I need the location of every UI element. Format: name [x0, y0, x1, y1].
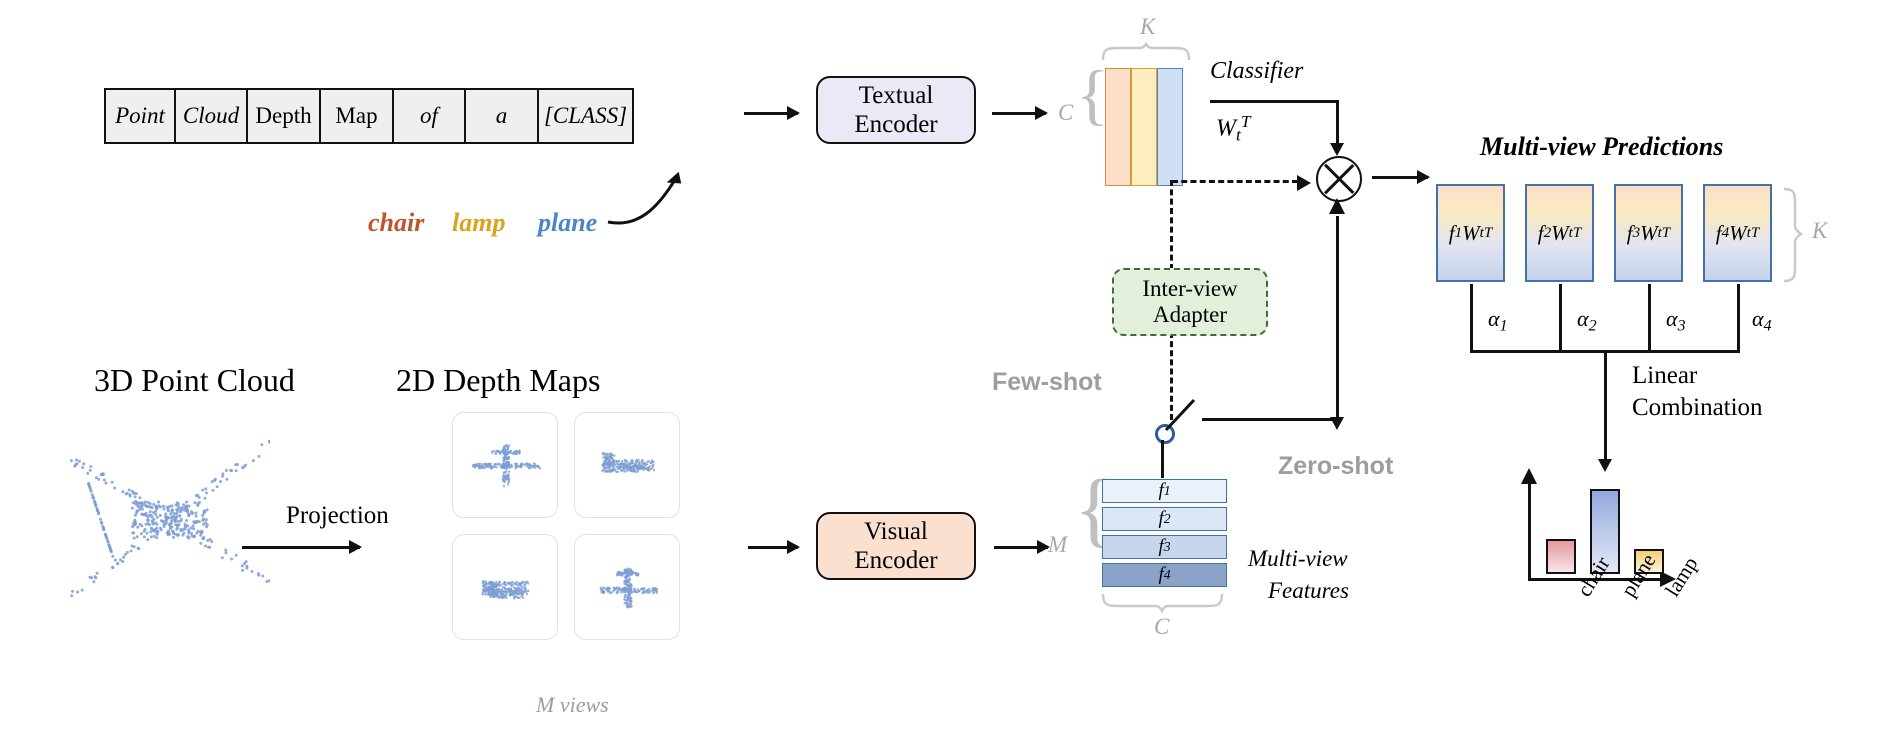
projection-label: Projection: [286, 502, 389, 530]
alpha-line-4: [1737, 284, 1740, 352]
m-views-label: M views: [536, 692, 609, 718]
prediction-box-4: f4WtT: [1703, 184, 1772, 282]
arrow-zeroshot-up-to-multiply: [1336, 216, 1339, 418]
arrow-multiply-to-predictions: [1372, 176, 1428, 179]
zeroshot-line-horizontal: [1202, 418, 1338, 421]
prompt-token-3: Map: [321, 90, 394, 142]
features-caption-line1: Multi-view: [1248, 546, 1348, 572]
chair-column: [1105, 68, 1131, 186]
depth-map-view-1-render: [453, 413, 559, 519]
visual-encoder-line2: Encoder: [854, 546, 937, 576]
adapter-line1: Inter-view: [1142, 276, 1237, 302]
depth-map-view-2-render: [575, 413, 681, 519]
depth-map-view-3: [452, 534, 558, 640]
textual-encoder-box: Textual Encoder: [816, 76, 976, 144]
class-word-lamp: lamp: [452, 208, 505, 238]
alpha-label-4: α4: [1752, 306, 1771, 335]
features-brace-bottom: [1100, 592, 1228, 614]
inter-view-adapter-box: Inter-view Adapter: [1112, 268, 1268, 336]
predictions-dim-K-label: K: [1812, 218, 1827, 244]
dashed-line-adapter-up: [1170, 180, 1173, 270]
alpha-label-2: α2: [1577, 306, 1596, 335]
lamp-column: [1131, 68, 1157, 186]
multiply-operator-icon: [1316, 156, 1362, 202]
alpha-label-1: α1: [1488, 306, 1507, 335]
multi-view-feature-stack: f1f2f3f4: [1102, 479, 1227, 591]
arrow-depthmaps-to-visual-encoder: [748, 546, 798, 549]
feature-row-f1: f1: [1102, 479, 1227, 503]
few-shot-label: Few-shot: [992, 368, 1102, 397]
visual-encoder-line1: Visual: [864, 517, 928, 547]
class-curve-arrow-icon: [600, 150, 720, 230]
classifier-title: Classifier: [1210, 58, 1303, 85]
linear-combination-line2: Combination: [1632, 394, 1763, 422]
depth-map-view-4-render: [575, 535, 681, 641]
plane-column: [1157, 68, 1183, 186]
predictions-title: Multi-view Predictions: [1480, 132, 1723, 162]
prediction-box-1: f1WtT: [1436, 184, 1505, 282]
classifier-brace-left: {: [1076, 60, 1109, 128]
arrow-prompt-to-textual-encoder: [744, 112, 798, 115]
features-dim-M-label: M: [1048, 532, 1067, 558]
classifier-brace-top: [1100, 42, 1192, 62]
feature-row-f3: f3: [1102, 535, 1227, 559]
classifier-dim-C-label: C: [1058, 100, 1073, 126]
textual-encoder-line1: Textual: [859, 81, 934, 111]
alpha-line-2: [1559, 284, 1562, 352]
class-word-plane: plane: [538, 208, 597, 238]
prediction-box-2: f2WtT: [1525, 184, 1594, 282]
prompt-token-1: Cloud: [176, 90, 248, 142]
arrow-classifier-down: [1336, 100, 1339, 144]
prompt-token-0: Point: [106, 90, 176, 142]
visual-encoder-box: Visual Encoder: [816, 512, 976, 580]
classifier-weights-label: WtT: [1216, 112, 1250, 145]
prediction-boxes-row: f1WtTf2WtTf3WtTf4WtT: [1436, 184, 1772, 282]
prompt-token-5: a: [466, 90, 539, 142]
bar-chair: [1546, 539, 1576, 574]
predictions-brace-right: [1782, 186, 1804, 284]
prediction-box-3: f3WtT: [1614, 184, 1683, 282]
mode-switch-lever-icon[interactable]: [1162, 398, 1208, 438]
prompt-token-4: of: [394, 90, 466, 142]
alpha-line-1: [1470, 284, 1473, 352]
adapter-line2: Adapter: [1153, 302, 1227, 328]
features-caption-line2: Features: [1268, 578, 1349, 604]
alpha-line-3: [1648, 284, 1651, 352]
arrow-linear-combination-down: [1604, 350, 1607, 460]
prediction-bar-chart: chairplanelamp: [1528, 470, 1748, 580]
depth-map-view-4: [574, 534, 680, 640]
point-cloud-render: [70, 440, 270, 600]
classifier-matrix: [1105, 68, 1183, 186]
arrow-textual-encoder-to-classifier: [992, 112, 1046, 115]
prompt-token-6: [CLASS]: [539, 90, 632, 142]
arrow-projection: [242, 546, 360, 549]
point-cloud-title: 3D Point Cloud: [94, 362, 295, 399]
switch-stem-line: [1161, 440, 1164, 478]
depth-maps-title: 2D Depth Maps: [396, 362, 600, 399]
linear-combination-line1: Linear: [1632, 362, 1697, 390]
classifier-dim-K-label: K: [1140, 14, 1155, 40]
features-dim-C-label: C: [1154, 614, 1169, 640]
depth-map-view-3-render: [453, 535, 559, 641]
zero-shot-label: Zero-shot: [1278, 452, 1393, 481]
alpha-label-3: α3: [1666, 306, 1685, 335]
depth-map-grid: [452, 412, 690, 646]
feature-row-f4: f4: [1102, 563, 1227, 587]
dashed-arrow-adapter-to-multiply: [1172, 180, 1298, 183]
depth-map-view-1: [452, 412, 558, 518]
zeroshot-arrowhead-icon: [1326, 198, 1350, 218]
textual-encoder-line2: Encoder: [854, 110, 937, 140]
classifier-line-horizontal: [1210, 100, 1338, 103]
class-word-chair: chair: [368, 208, 424, 238]
depth-map-view-2: [574, 412, 680, 518]
prompt-token-2: Depth: [248, 90, 321, 142]
arrow-visual-encoder-to-features: [994, 546, 1048, 549]
prompt-token-row: PointCloudDepthMapofa[CLASS]: [104, 88, 634, 144]
feature-row-f2: f2: [1102, 507, 1227, 531]
